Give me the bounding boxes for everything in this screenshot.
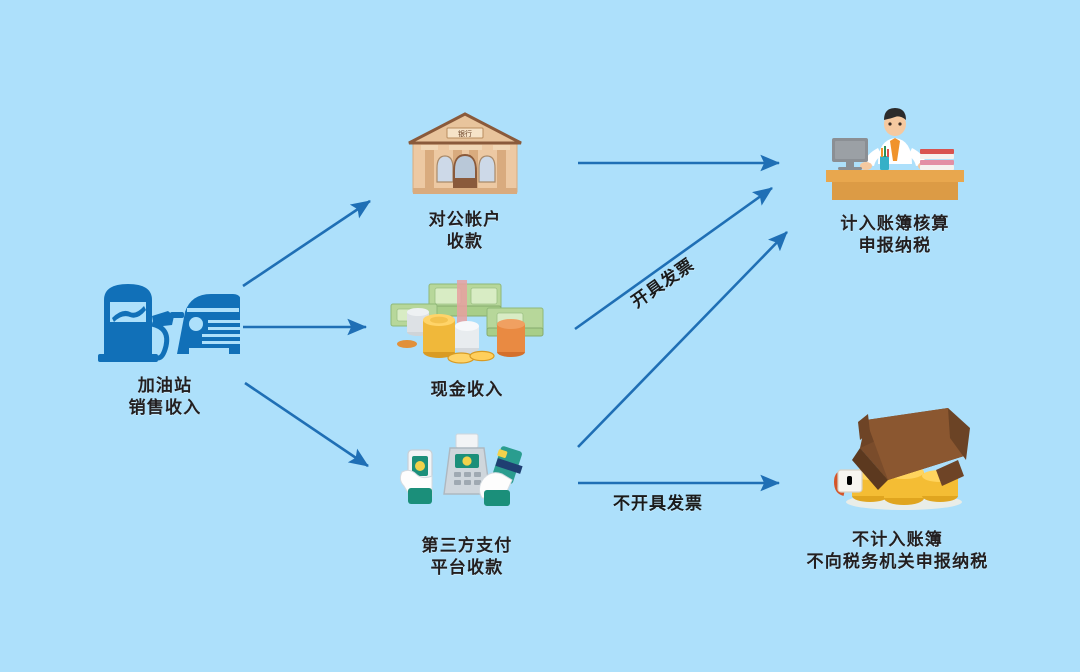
declared-label-line1: 计入账簿核算 [840,213,949,235]
hidden-coins-box-icon [818,398,978,523]
node-cash: 现金收入 [382,268,552,401]
node-declared-label: 计入账簿核算 申报纳税 [840,213,949,257]
cash-label-line1: 现金收入 [431,379,504,401]
accountant-desk-icon [820,102,970,207]
node-gas-station: 加油站 销售收入 [70,272,260,419]
node-gas-station-label: 加油站 销售收入 [129,375,202,419]
bank-building-icon: 银行 [401,110,529,203]
gas-station-icon [90,272,240,369]
arrow-source-to-bank [243,201,370,286]
node-third-party-pay: 第三方支付 平台收款 [392,432,542,579]
node-undeclared-label: 不计入账簿 不向税务机关申报纳税 [807,529,989,573]
node-declared: 计入账簿核算 申报纳税 [805,102,985,257]
node-bank-account: 银行 对公帐户 收款 [400,110,530,253]
bank-label-line2: 收款 [429,231,502,253]
diagram-canvas: 开具发票 不开具发票 [0,0,1080,672]
arrow-source-to-thirdparty [245,383,368,466]
edge-label-issue-invoice: 开具发票 [625,251,698,313]
undeclared-label-line1: 不计入账簿 [807,529,989,551]
node-cash-label: 现金收入 [431,379,504,401]
pos-terminal-icon [392,432,542,529]
gas-station-label-line2: 销售收入 [129,397,202,419]
node-undeclared: 不计入账簿 不向税务机关申报纳税 [790,398,1005,573]
bank-label-line1: 对公帐户 [429,209,502,231]
thirdparty-label-line2: 平台收款 [422,557,513,579]
undeclared-label-line2: 不向税务机关申报纳税 [807,551,989,573]
svg-text:银行: 银行 [458,129,472,138]
node-third-party-pay-label: 第三方支付 平台收款 [422,535,513,579]
node-bank-account-label: 对公帐户 收款 [429,209,502,253]
declared-label-line2: 申报纳税 [840,235,949,257]
thirdparty-label-line1: 第三方支付 [422,535,513,557]
gas-station-label-line1: 加油站 [129,375,202,397]
cash-money-icon [383,268,551,373]
edge-label-no-invoice: 不开具发票 [613,489,703,514]
